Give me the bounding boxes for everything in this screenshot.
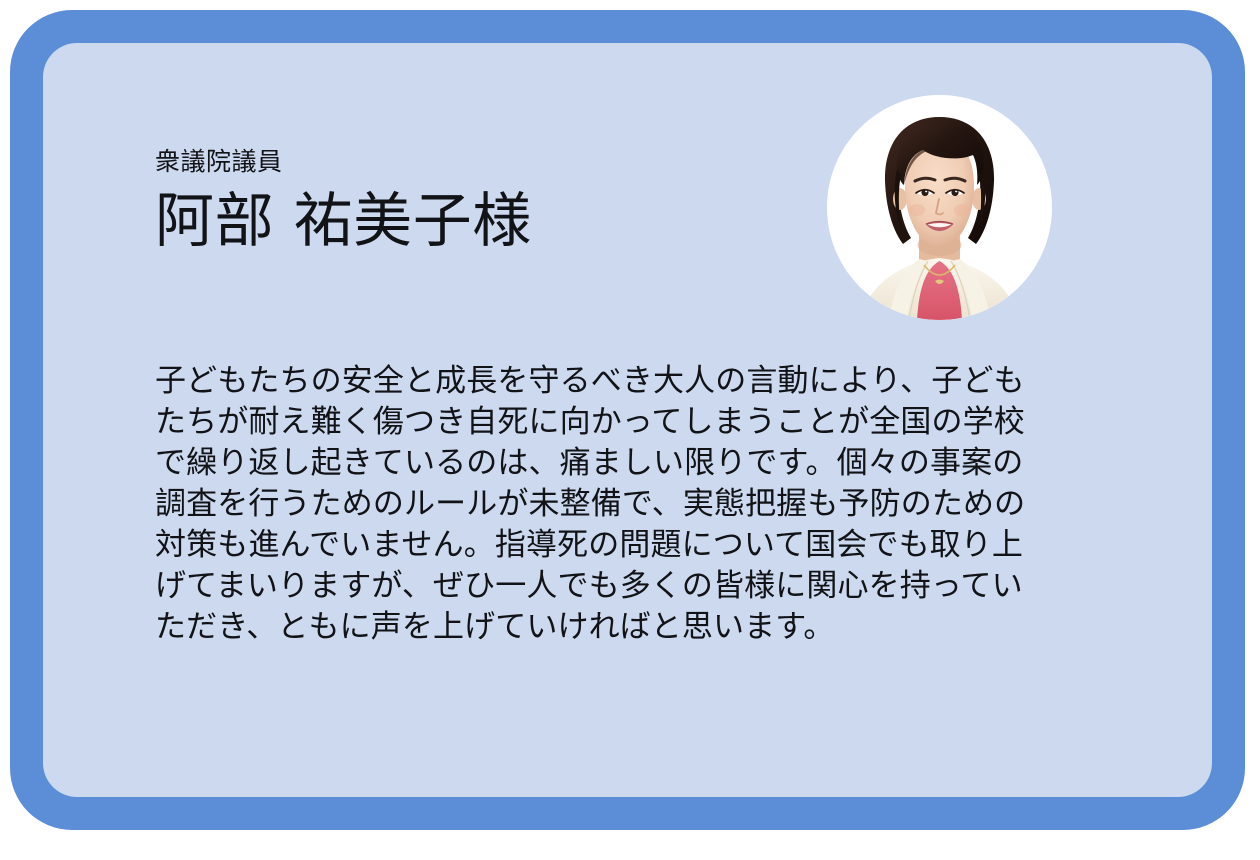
header-block: 衆議院議員 阿部 祐美子様 [155,146,815,254]
profile-card: 衆議院議員 阿部 祐美子様 [10,10,1245,830]
page-root: 衆議院議員 阿部 祐美子様 [0,0,1260,860]
portrait-photo [827,95,1052,320]
portrait-illustration [827,95,1052,320]
role-label: 衆議院議員 [155,146,815,177]
person-name: 阿部 祐美子様 [155,189,815,254]
profile-card-inner: 衆議院議員 阿部 祐美子様 [43,43,1212,797]
message-body: 子どもたちの安全と成長を守るべき大人の言動により、子どもたちが耐え難く傷つき自死… [155,361,1035,648]
